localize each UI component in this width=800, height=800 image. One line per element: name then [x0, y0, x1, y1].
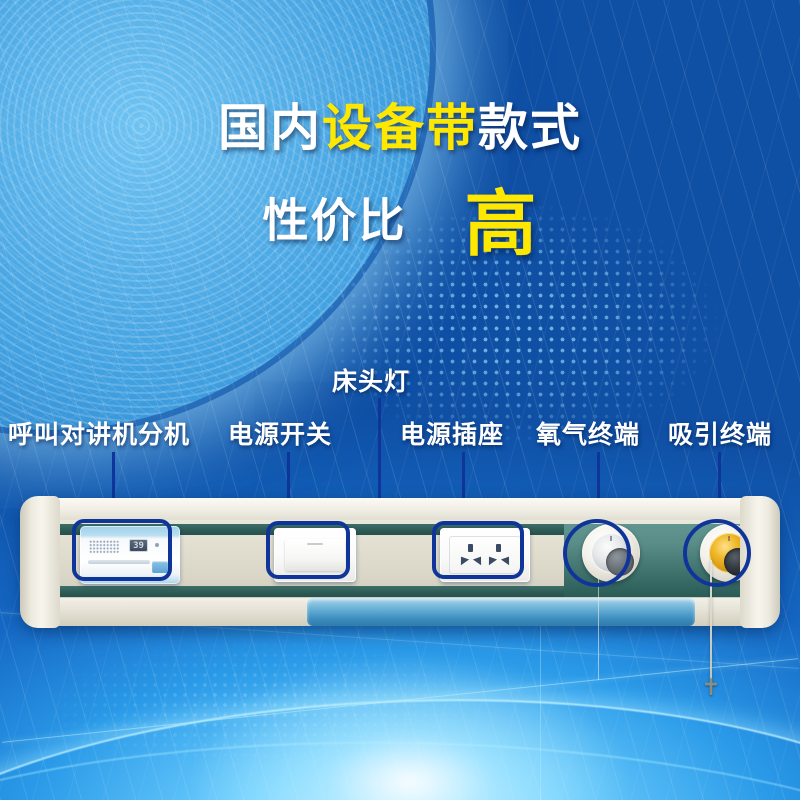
callout-label-power-socket: 电源插座	[400, 415, 504, 451]
headline: 国内设备带款式	[0, 88, 800, 160]
oxygen-terminal-device[interactable]	[582, 524, 640, 582]
socket-pin-left-icon	[457, 554, 469, 565]
panel-rail-blue-insert	[307, 598, 695, 626]
nurse-call-intercom-device[interactable]: 39	[80, 526, 180, 584]
panel-body: 39	[22, 498, 778, 626]
subheadline: 性价比高	[0, 165, 800, 270]
intercom-slot	[88, 560, 150, 564]
socket-outlet-right[interactable]	[486, 544, 512, 566]
cord-weight-icon: ✝	[699, 675, 723, 701]
rocker-toggle[interactable]	[285, 539, 345, 571]
subheadline-highlight: 高	[464, 182, 537, 266]
panel-end-cap-left	[20, 496, 60, 628]
oxygen-terminal-inner	[591, 533, 631, 573]
headline-part3: 款式	[478, 99, 582, 157]
panel-stripe-bottom	[56, 586, 564, 597]
bottom-light-burst	[180, 650, 640, 800]
power-switch-device[interactable]	[274, 528, 356, 582]
socket-pin-right-icon	[501, 554, 513, 565]
indicator-led-icon	[155, 543, 159, 547]
headline-highlight: 设备带	[322, 99, 478, 157]
intercom-call-button[interactable]	[152, 561, 168, 573]
socket-outlet-left[interactable]	[458, 544, 484, 566]
subheadline-text: 性价比	[262, 194, 406, 248]
oxygen-terminal-port[interactable]	[606, 548, 634, 576]
intercom-display: 39	[129, 539, 148, 552]
callout-label-bed-lamp: 床头灯	[332, 362, 410, 398]
callout-label-oxygen-terminal: 氧气终端	[536, 415, 640, 451]
panel-top-lip	[22, 498, 778, 520]
headline-part1: 国内	[218, 99, 322, 157]
vertical-light-line	[540, 620, 541, 800]
oxygen-terminal-tick-icon	[610, 536, 612, 541]
bed-head-unit-panel: 39	[22, 498, 778, 626]
socket-face	[449, 536, 521, 574]
oxygen-hanging-line	[598, 575, 599, 680]
socket-pin-top-icon	[468, 544, 473, 552]
speaker-grille-icon	[89, 540, 119, 554]
poster-canvas: 国内设备带款式 性价比高 呼叫对讲机分机 电源开关 床头灯 电源插座 氧气终端 …	[0, 0, 800, 800]
socket-pin-left-icon	[485, 554, 497, 565]
suction-pull-cord[interactable]	[710, 560, 712, 682]
callout-label-power-switch: 电源开关	[228, 415, 332, 451]
power-socket-device[interactable]	[440, 528, 530, 582]
socket-pin-top-icon	[496, 544, 501, 552]
panel-end-cap-right	[740, 496, 780, 628]
suction-terminal-tick-icon	[728, 536, 730, 541]
callout-label-suction-terminal: 吸引终端	[668, 415, 772, 451]
callout-label-nurse-call-intercom: 呼叫对讲机分机	[8, 415, 190, 451]
socket-pin-right-icon	[473, 554, 485, 565]
